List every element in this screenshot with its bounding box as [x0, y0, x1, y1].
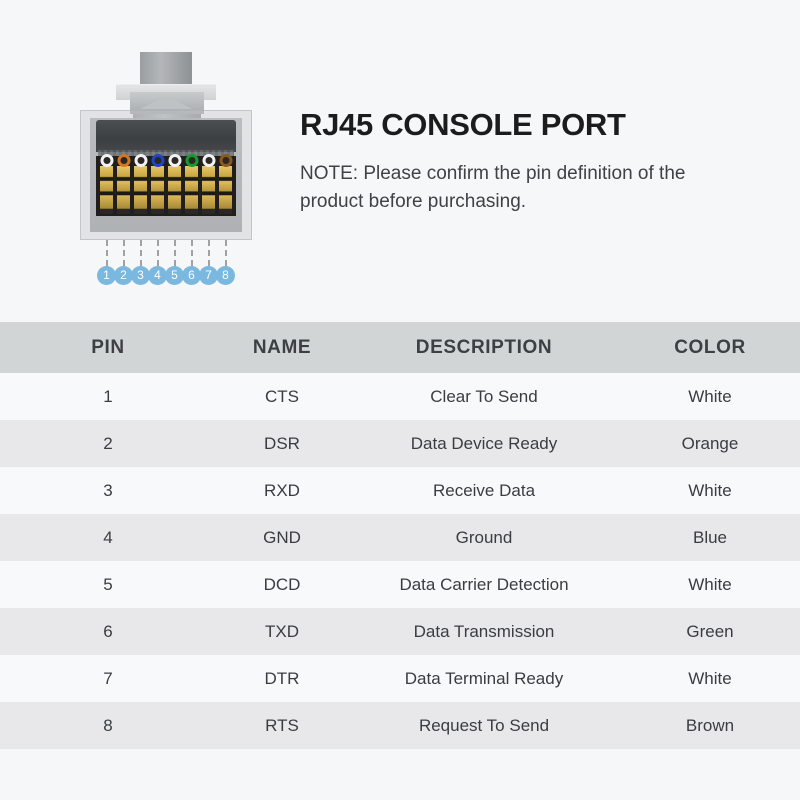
cell-name: GND: [216, 514, 348, 561]
column-header-name: NAME: [216, 322, 348, 373]
wire-color-ring: [202, 154, 215, 167]
connector-top-band: [96, 120, 236, 152]
cell-name: RXD: [216, 467, 348, 514]
cell-name: DSR: [216, 420, 348, 467]
pin-leader-line: [174, 240, 176, 266]
table-row: 7DTRData Terminal ReadyWhite: [0, 655, 800, 702]
cell-description: Request To Send: [348, 702, 620, 749]
cell-pin: 4: [0, 514, 216, 561]
column-header-pin: PIN: [0, 322, 216, 373]
cable-stub: [140, 52, 192, 86]
cell-pin: 3: [0, 467, 216, 514]
cell-name: DTR: [216, 655, 348, 702]
pin-contact: [168, 156, 181, 216]
wire-color-ring: [168, 154, 181, 167]
pin-contact: [202, 156, 215, 216]
cell-color: White: [620, 561, 800, 608]
cell-color: White: [620, 655, 800, 702]
cell-color: Orange: [620, 420, 800, 467]
cell-description: Ground: [348, 514, 620, 561]
cell-description: Data Terminal Ready: [348, 655, 620, 702]
pin-leader-line: [225, 240, 227, 266]
cell-name: RTS: [216, 702, 348, 749]
table-header-row: PIN NAME DESCRIPTION COLOR: [0, 322, 800, 373]
heading-block: RJ45 CONSOLE PORT NOTE: Please confirm t…: [300, 108, 770, 215]
cell-color: Green: [620, 608, 800, 655]
pin-leader-line: [123, 240, 125, 266]
pin-blade: [168, 166, 181, 214]
pin-contact: [100, 156, 113, 216]
pin-contact: [185, 156, 198, 216]
column-header-color: COLOR: [620, 322, 800, 373]
pin-blade: [134, 166, 147, 214]
table-row: 6TXDData TransmissionGreen: [0, 608, 800, 655]
wire-color-ring: [100, 154, 113, 167]
cell-description: Receive Data: [348, 467, 620, 514]
cell-description: Data Carrier Detection: [348, 561, 620, 608]
pin-leader-line: [208, 240, 210, 266]
pin-leader-line: [191, 240, 193, 266]
pin-contact: [219, 156, 232, 216]
cell-name: DCD: [216, 561, 348, 608]
pin-contact-bed: [96, 156, 236, 216]
cell-name: TXD: [216, 608, 348, 655]
wire-color-ring: [151, 154, 164, 167]
pin-number-badges: 12345678: [78, 266, 254, 288]
cell-color: Brown: [620, 702, 800, 749]
pin-blade: [117, 166, 130, 214]
cell-pin: 2: [0, 420, 216, 467]
pin-contact: [134, 156, 147, 216]
cell-color: White: [620, 373, 800, 420]
pin-blade: [100, 166, 113, 214]
table-row: 8RTSRequest To SendBrown: [0, 702, 800, 749]
pin-blade: [202, 166, 215, 214]
cell-name: CTS: [216, 373, 348, 420]
pin-blade: [151, 166, 164, 214]
table-row: 2DSRData Device ReadyOrange: [0, 420, 800, 467]
cell-pin: 6: [0, 608, 216, 655]
cell-color: White: [620, 467, 800, 514]
pin-leader-line: [140, 240, 142, 266]
cell-pin: 1: [0, 373, 216, 420]
note-text: NOTE: Please confirm the pin definition …: [300, 160, 700, 215]
table-row: 4GNDGroundBlue: [0, 514, 800, 561]
cell-pin: 8: [0, 702, 216, 749]
table-row: 1CTSClear To SendWhite: [0, 373, 800, 420]
wire-color-ring: [134, 154, 147, 167]
table-row: 3RXDReceive DataWhite: [0, 467, 800, 514]
pin-contact: [151, 156, 164, 216]
cell-pin: 5: [0, 561, 216, 608]
pin-leader-lines: [78, 240, 254, 266]
pin-leader-line: [157, 240, 159, 266]
cell-description: Data Transmission: [348, 608, 620, 655]
page-title: RJ45 CONSOLE PORT: [300, 108, 770, 142]
wire-color-ring: [117, 154, 130, 167]
cell-description: Data Device Ready: [348, 420, 620, 467]
cell-color: Blue: [620, 514, 800, 561]
pin-blade: [219, 166, 232, 214]
pin-blade: [185, 166, 198, 214]
wire-color-ring: [185, 154, 198, 167]
rj45-connector-illustration: 12345678: [78, 52, 254, 292]
pin-number-badge: 8: [216, 266, 235, 285]
column-header-description: DESCRIPTION: [348, 322, 620, 373]
wire-color-ring: [219, 154, 232, 167]
cell-description: Clear To Send: [348, 373, 620, 420]
table-row: 5DCDData Carrier DetectionWhite: [0, 561, 800, 608]
pin-contact: [117, 156, 130, 216]
pin-leader-line: [106, 240, 108, 266]
pin-definition-table: PIN NAME DESCRIPTION COLOR 1CTSClear To …: [0, 322, 800, 749]
cell-pin: 7: [0, 655, 216, 702]
hero-section: 12345678 RJ45 CONSOLE PORT NOTE: Please …: [0, 0, 800, 322]
